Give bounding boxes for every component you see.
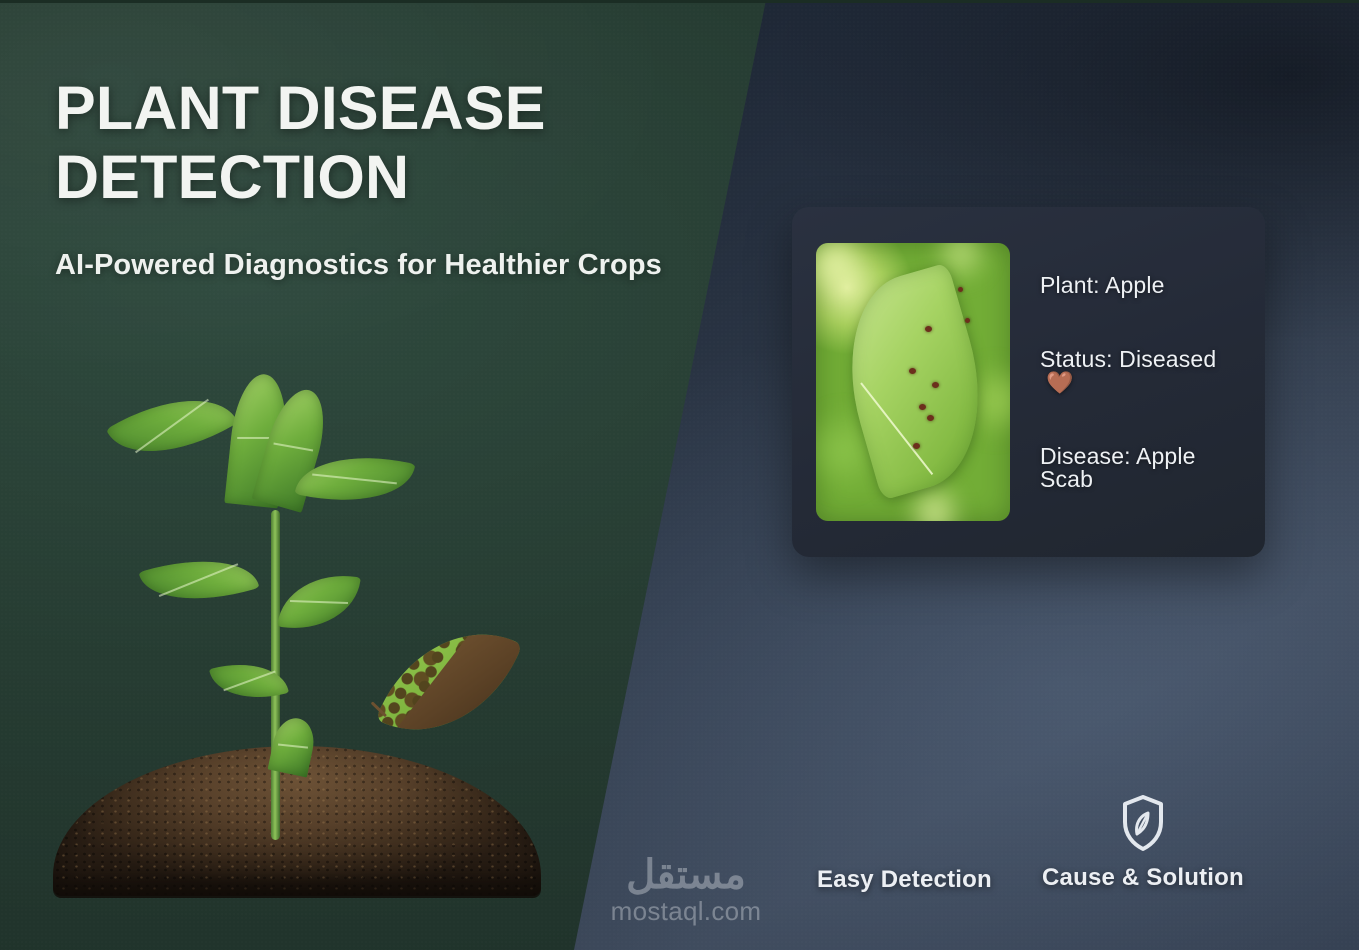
feature-easy-detection[interactable]: Easy Detection (817, 854, 992, 894)
feature-label: Cause & Solution (1042, 864, 1244, 892)
plant-name-row: Plant: Apple (1040, 274, 1243, 297)
top-edge-divider (0, 0, 1359, 3)
brown-heart-icon: 🤎 (1046, 370, 1074, 395)
leaf-photo-thumbnail[interactable] (816, 243, 1010, 521)
poster-canvas: PLANT DISEASE DETECTION AI-Powered Diagn… (0, 0, 1359, 950)
seedling-illustration (45, 360, 545, 930)
status-text: Status: Diseased (1040, 346, 1216, 372)
feature-label: Easy Detection (817, 866, 992, 894)
feature-cause-solution[interactable]: Cause & Solution (1042, 790, 1244, 892)
status-row: Status: Diseased🤎 (1040, 348, 1243, 394)
disease-name-text: Disease: Apple Scab (1040, 443, 1196, 492)
shield-leaf-icon (1042, 790, 1244, 852)
leaf-mid-left (139, 541, 260, 618)
feature-row: Easy Detection Cause & Solution (820, 790, 1280, 930)
diseased-leaf-illustration (375, 602, 522, 761)
plant-name-text: Plant: Apple (1040, 272, 1165, 298)
leaf-upper-left (106, 371, 238, 482)
page-subtitle: AI-Powered Diagnostics for Healthier Cro… (55, 249, 695, 282)
page-title: PLANT DISEASE DETECTION (55, 74, 675, 212)
disease-row: Disease: Apple Scab (1040, 445, 1243, 491)
leaf-lower-right (277, 567, 361, 637)
diagnosis-result-card[interactable]: Plant: Apple Status: Diseased🤎 Disease: … (792, 207, 1265, 557)
diagnosis-details: Plant: Apple Status: Diseased🤎 Disease: … (1036, 274, 1243, 491)
